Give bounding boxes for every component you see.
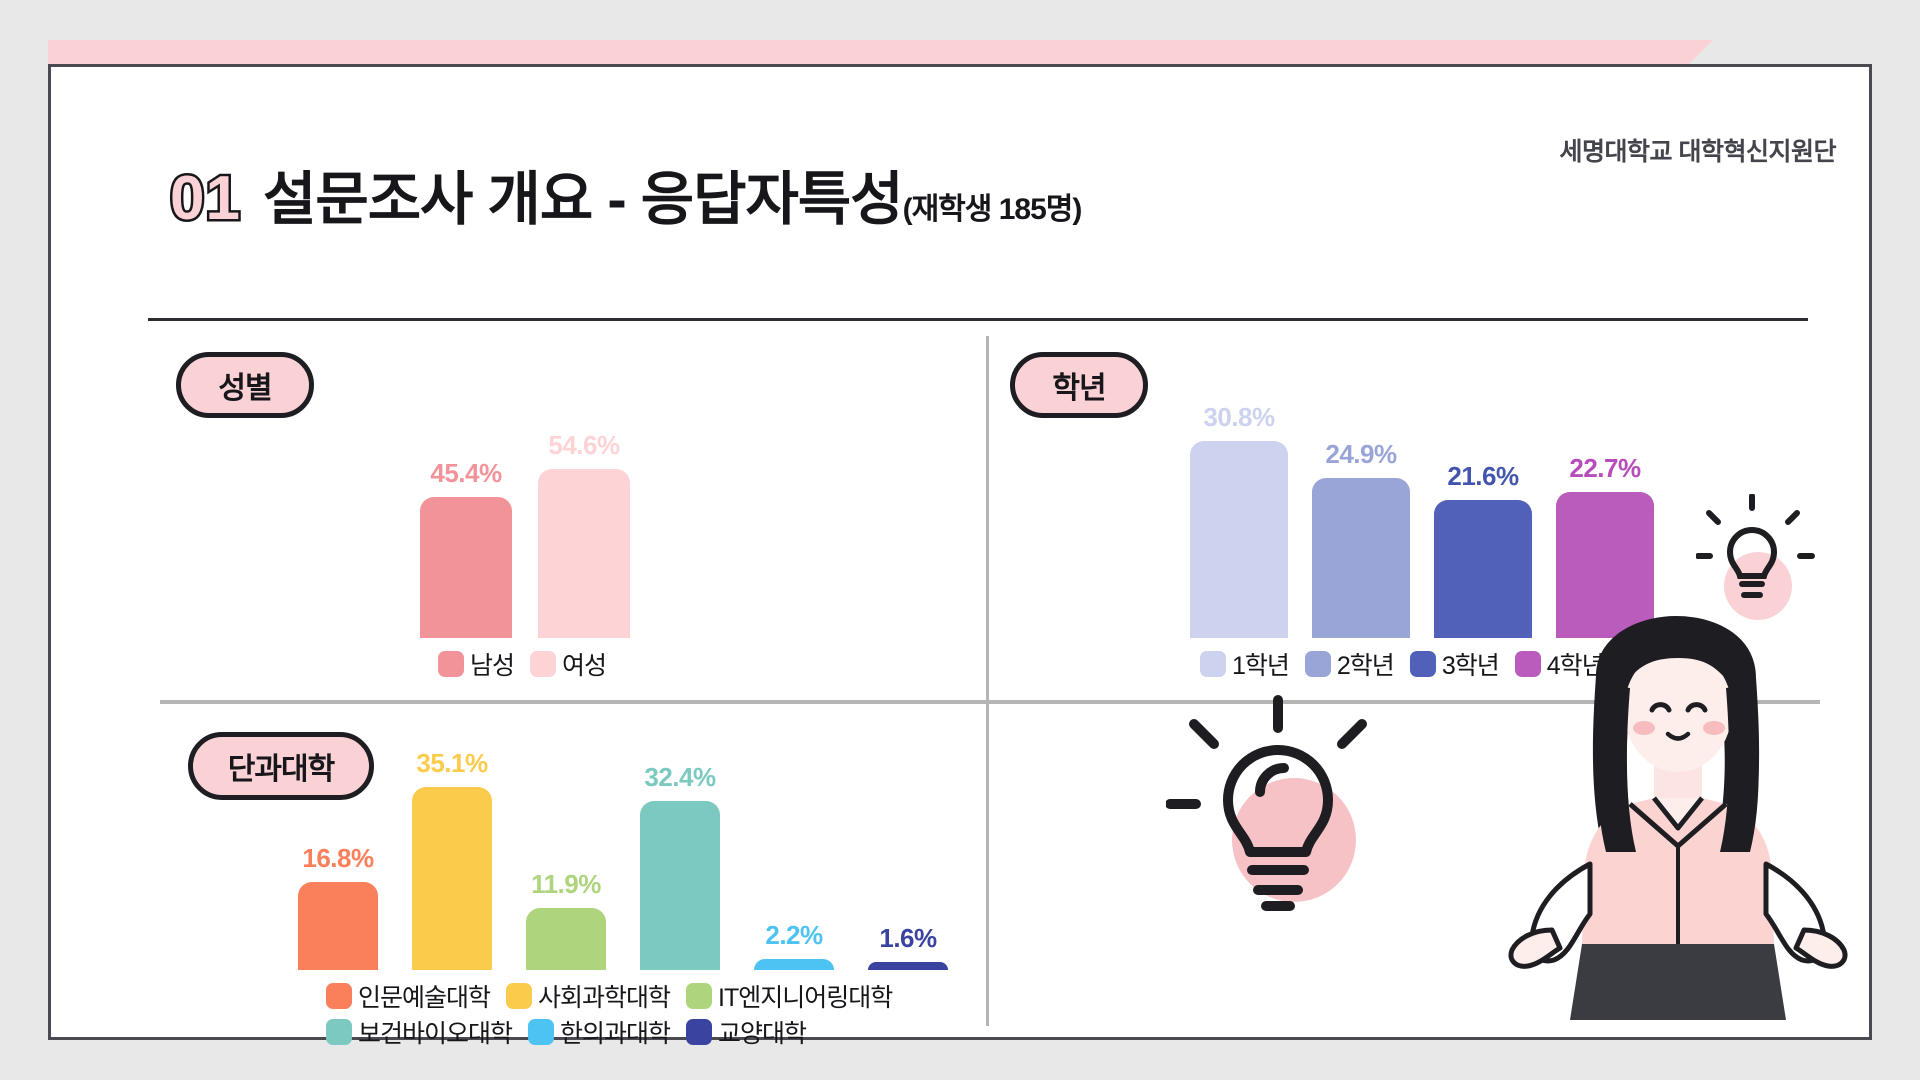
bar-value-label: 21.6% (1447, 461, 1518, 492)
legend-item: 인문예술대학 (326, 978, 490, 1014)
bar-value-label: 35.1% (416, 748, 487, 779)
gender-bar-chart: 45.4%54.6% (420, 410, 642, 638)
legend-item: 2학년 (1305, 646, 1394, 682)
person-illustration (1478, 614, 1878, 1020)
bar-value-label: 22.7% (1569, 453, 1640, 484)
legend-item: IT엔지니어링대학 (686, 978, 892, 1014)
bar-value-label: 54.6% (548, 430, 619, 461)
legend-item: 사회과학대학 (506, 978, 670, 1014)
legend-swatch (686, 1019, 712, 1045)
lightbulb-small-icon (1696, 494, 1816, 624)
bar-value-label: 1.6% (879, 923, 936, 954)
vertical-divider (986, 336, 989, 1026)
bar-column: 24.9% (1312, 378, 1410, 638)
title-suffix-text: (재학생 185명) (903, 195, 1082, 225)
legend-swatch (326, 983, 352, 1009)
legend-swatch (528, 1019, 554, 1045)
legend-label: IT엔지니어링대학 (718, 978, 892, 1014)
bar-rect (420, 497, 512, 638)
legend-item: 1학년 (1200, 646, 1289, 682)
bar-column: 35.1% (412, 730, 492, 970)
page-title: 01 설문조사 개요 - 응답자특성 (재학생 185명) (170, 168, 1081, 230)
bar-column: 22.7% (1556, 378, 1654, 638)
legend-label: 여성 (562, 646, 606, 682)
legend-swatch (326, 1019, 352, 1045)
bar-value-label: 32.4% (644, 762, 715, 793)
bar-value-label: 16.8% (302, 843, 373, 874)
section-badge-gender: 성별 (176, 352, 314, 418)
legend-label: 1학년 (1232, 646, 1289, 682)
section-number: 01 (170, 168, 241, 230)
slide-canvas: 세명대학교 대학혁신지원단 01 설문조사 개요 - 응답자특성 (재학생 18… (48, 40, 1872, 1040)
bar-value-label: 45.4% (430, 458, 501, 489)
legend-swatch (686, 983, 712, 1009)
section-badge-grade: 학년 (1010, 352, 1148, 418)
legend-swatch (438, 651, 464, 677)
legend-label: 한의과대학 (560, 1014, 670, 1050)
legend-swatch (530, 651, 556, 677)
bar-column: 1.6% (868, 730, 948, 970)
bar-column: 45.4% (420, 410, 512, 638)
college-bar-chart: 16.8%35.1%11.9%32.4%2.2%1.6% (298, 730, 958, 970)
legend-swatch (506, 983, 532, 1009)
legend-label: 사회과학대학 (538, 978, 670, 1014)
legend-label: 인문예술대학 (358, 978, 490, 1014)
legend-item: 한의과대학 (528, 1014, 670, 1050)
bar-value-label: 24.9% (1325, 439, 1396, 470)
bar-column: 32.4% (640, 730, 720, 970)
bar-rect (526, 908, 606, 970)
college-legend: 인문예술대학사회과학대학IT엔지니어링대학보건바이오대학한의과대학교양대학 (326, 978, 926, 1050)
bar-value-label: 11.9% (531, 869, 601, 900)
legend-item: 교양대학 (686, 1014, 806, 1050)
bar-rect (868, 962, 948, 970)
title-underline (148, 318, 1808, 321)
legend-item: 보건바이오대학 (326, 1014, 512, 1050)
pink-header-tab (48, 40, 1713, 66)
bar-column: 2.2% (754, 730, 834, 970)
grade-bar-chart: 30.8%24.9%21.6%22.7% (1190, 378, 1660, 638)
bar-rect (1312, 478, 1410, 638)
bar-rect (640, 801, 720, 970)
legend-item: 여성 (530, 646, 606, 682)
bar-column: 11.9% (526, 730, 606, 970)
bar-value-label: 30.8% (1203, 402, 1274, 433)
legend-swatch (1200, 651, 1226, 677)
legend-swatch (1410, 651, 1436, 677)
title-main-text: 설문조사 개요 - 응답자특성 (263, 171, 903, 229)
bar-column: 54.6% (538, 410, 630, 638)
bar-column: 30.8% (1190, 378, 1288, 638)
bar-column: 21.6% (1434, 378, 1532, 638)
bar-column: 16.8% (298, 730, 378, 970)
bar-rect (1190, 441, 1288, 638)
bar-rect (538, 469, 630, 638)
legend-swatch (1305, 651, 1331, 677)
bar-rect (754, 959, 834, 970)
organization-name: 세명대학교 대학혁신지원단 (1560, 132, 1836, 168)
legend-label: 2학년 (1337, 646, 1394, 682)
bar-rect (412, 787, 492, 970)
bar-rect (298, 882, 378, 970)
lightbulb-large-icon (1166, 692, 1396, 922)
legend-label: 보건바이오대학 (358, 1014, 512, 1050)
legend-label: 남성 (470, 646, 514, 682)
legend-label: 교양대학 (718, 1014, 806, 1050)
bar-value-label: 2.2% (765, 920, 822, 951)
gender-legend: 남성여성 (438, 646, 698, 682)
legend-item: 남성 (438, 646, 514, 682)
